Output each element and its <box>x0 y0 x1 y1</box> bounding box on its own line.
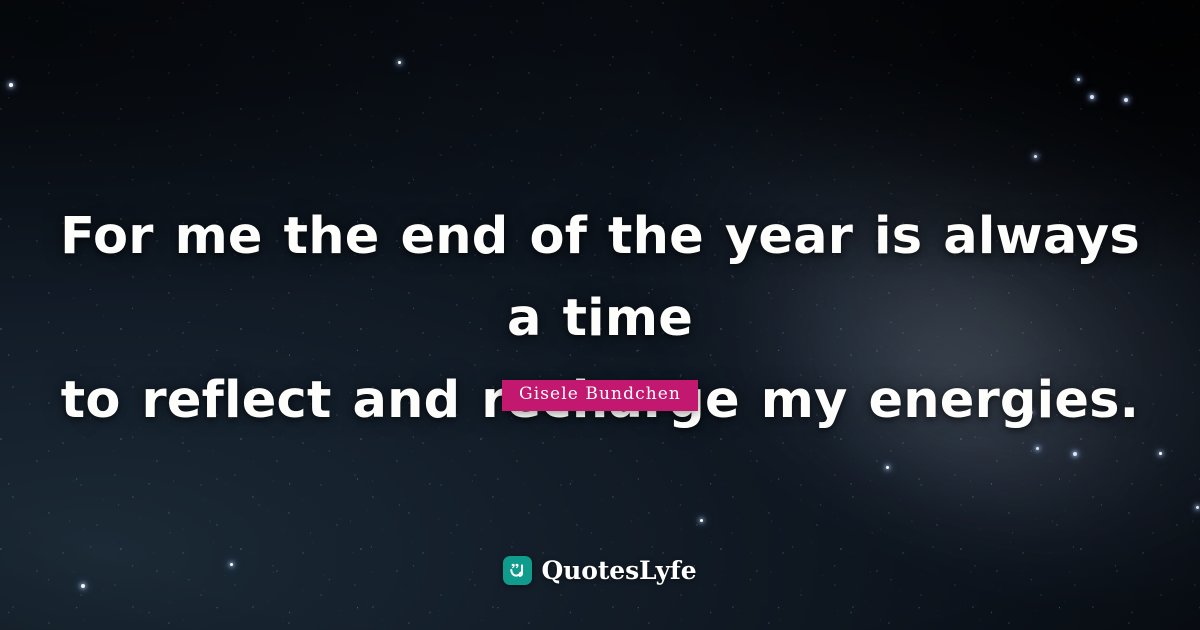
author-attribution: Gisele Bundchen <box>0 380 1200 411</box>
brand-wordmark: QuotesLyfe <box>541 556 696 585</box>
quote-smiley-icon <box>503 556 532 585</box>
card-content: For me the end of the year is always a t… <box>0 0 1200 630</box>
author-name-badge: Gisele Bundchen <box>502 380 698 411</box>
quote-image-card: For me the end of the year is always a t… <box>0 0 1200 630</box>
quote-line-1: For me the end of the year is always a t… <box>58 196 1142 360</box>
brand-logo: QuotesLyfe <box>0 556 1200 585</box>
